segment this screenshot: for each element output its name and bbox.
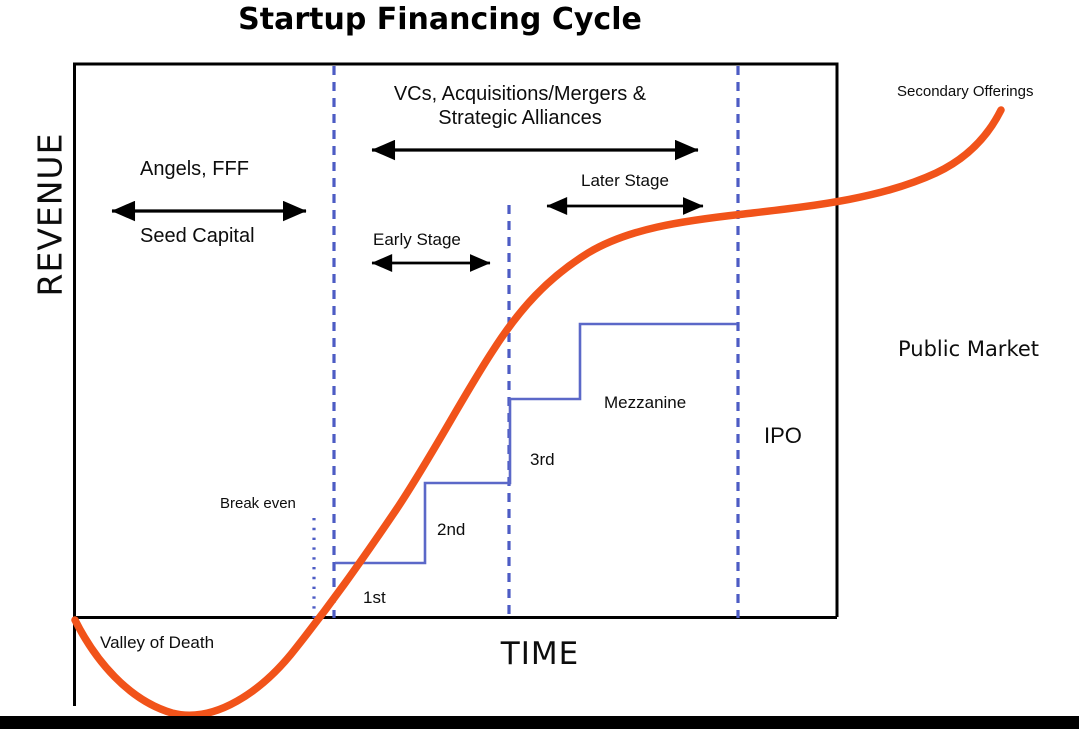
x-axis-label: TIME bbox=[420, 636, 660, 672]
label-round-1st: 1st bbox=[363, 588, 386, 608]
label-vcs-mergers: VCs, Acquisitions/Mergers & Strategic Al… bbox=[355, 82, 685, 131]
footer-bar bbox=[0, 716, 1079, 729]
label-round-2nd: 2nd bbox=[437, 520, 465, 540]
label-early-stage: Early Stage bbox=[373, 230, 461, 250]
label-vcs-mergers-line2: Strategic Alliances bbox=[355, 106, 685, 130]
y-axis-label: REVENUE bbox=[31, 105, 70, 325]
label-public-market: Public Market bbox=[898, 337, 1039, 361]
label-angels-fff: Angels, FFF bbox=[140, 158, 249, 181]
figure-root: Startup Financing Cycle bbox=[0, 0, 1079, 729]
label-later-stage: Later Stage bbox=[581, 171, 669, 191]
label-seed-capital: Seed Capital bbox=[140, 225, 255, 248]
funding-steps-path bbox=[335, 324, 737, 563]
label-mezzanine: Mezzanine bbox=[604, 393, 686, 413]
label-valley-of-death: Valley of Death bbox=[100, 633, 214, 653]
label-ipo: IPO bbox=[764, 423, 802, 449]
label-vcs-mergers-line1: VCs, Acquisitions/Mergers & bbox=[355, 82, 685, 106]
label-break-even: Break even bbox=[220, 495, 296, 512]
label-secondary-offerings: Secondary Offerings bbox=[897, 83, 1033, 100]
label-round-3rd: 3rd bbox=[530, 450, 555, 470]
revenue-curve-path bbox=[75, 110, 1001, 715]
